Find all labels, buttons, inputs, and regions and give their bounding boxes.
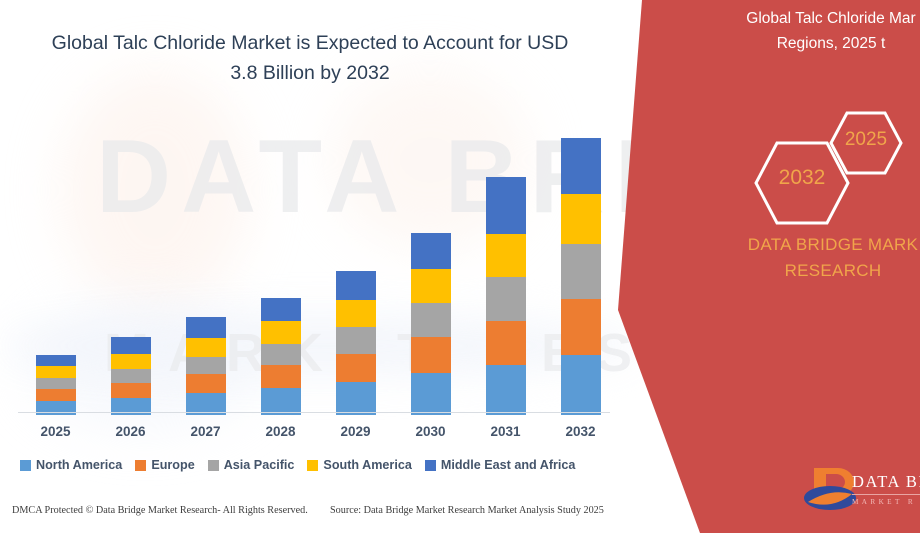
bar-segment [111,337,151,354]
bar-segment [36,389,76,401]
bar-segment [411,269,451,303]
bar-segment [186,374,226,393]
x-axis-label-2028: 2028 [251,424,311,439]
bar-segment [261,344,301,365]
bar-segment [486,277,526,321]
bar-2029 [336,271,376,415]
legend-item: Europe [135,458,194,472]
bar-segment [486,365,526,415]
bar-segment [561,244,601,299]
bar-segment [36,355,76,366]
bar-segment [336,354,376,382]
bar-segment [186,317,226,337]
legend-item: South America [307,458,411,472]
x-axis-label-2027: 2027 [176,424,236,439]
bar-segment [186,357,226,374]
legend-item: North America [20,458,122,472]
bar-segment [336,382,376,415]
brand-line-1: DATA BRIDGE MARK [720,232,920,258]
x-axis-label-2029: 2029 [326,424,386,439]
legend-swatch [20,460,31,471]
bar-segment [261,388,301,415]
bar-segment [561,355,601,415]
bar-segment [186,338,226,357]
logo-sub-text: MARKET R [852,498,920,506]
legend-label: Middle East and Africa [441,458,576,472]
bar-2028 [261,298,301,415]
x-axis-label-2026: 2026 [101,424,161,439]
bar-segment [486,234,526,277]
bar-2030 [411,233,451,415]
bar-2027 [186,317,226,415]
legend-swatch [135,460,146,471]
bar-segment [486,321,526,364]
x-axis-label-2032: 2032 [551,424,611,439]
right-panel-title: Global Talc Chloride Mar Regions, 2025 t [716,6,920,56]
legend-label: North America [36,458,122,472]
bar-segment [111,354,151,369]
brand-line-2: RESEARCH [720,258,920,284]
hexagon-2025: 2025 [828,110,904,176]
bar-segment [111,383,151,398]
bar-2032 [561,138,601,415]
bar-segment [261,321,301,343]
bar-segment [561,138,601,193]
chart-legend: North AmericaEuropeAsia PacificSouth Ame… [20,455,610,475]
legend-swatch [208,460,219,471]
legend-swatch [425,460,436,471]
x-axis-line [18,412,610,413]
bar-segment [36,378,76,389]
bar-segment [486,177,526,233]
brand-name: DATA BRIDGE MARK RESEARCH [720,232,920,284]
bar-2031 [486,177,526,415]
bar-segment [111,369,151,383]
bar-2026 [111,337,151,415]
legend-label: Europe [151,458,194,472]
legend-swatch [307,460,318,471]
logo-wordmark: DATA BR MARKET R [852,472,920,506]
bar-segment [411,233,451,269]
bar-segment [561,194,601,244]
right-panel-title-line-1: Global Talc Chloride Mar [716,6,920,31]
footer: DMCA Protected © Data Bridge Market Rese… [0,505,620,527]
right-panel-title-line-2: Regions, 2025 t [716,31,920,56]
x-axis-labels: 20252026202720282029203020312032 [18,424,618,446]
legend-label: South America [323,458,411,472]
stacked-bar-chart [18,110,618,415]
footer-source: Source: Data Bridge Market Research Mark… [330,505,604,516]
legend-item: Middle East and Africa [425,458,576,472]
bar-segment [561,299,601,354]
bar-segment [411,303,451,336]
page-title: Global Talc Chloride Market is Expected … [40,28,580,88]
hexagon-2025-label: 2025 [828,129,904,151]
bar-segment [336,327,376,353]
logo-main-text: DATA BR [852,472,920,492]
bar-segment [411,373,451,415]
legend-item: Asia Pacific [208,458,295,472]
bar-segment [36,366,76,378]
infographic-canvas: DATA BRIDGE MARKET RESEARCH Global Talc … [0,0,920,533]
x-axis-label-2031: 2031 [476,424,536,439]
bar-segment [261,298,301,321]
footer-copyright: DMCA Protected © Data Bridge Market Rese… [12,505,308,516]
x-axis-label-2025: 2025 [26,424,86,439]
bar-segment [336,271,376,300]
bar-segment [336,300,376,327]
bar-segment [261,365,301,388]
x-axis-label-2030: 2030 [401,424,461,439]
bar-2025 [36,355,76,415]
legend-label: Asia Pacific [224,458,295,472]
logo-divider [852,494,920,495]
bar-segment [411,337,451,373]
